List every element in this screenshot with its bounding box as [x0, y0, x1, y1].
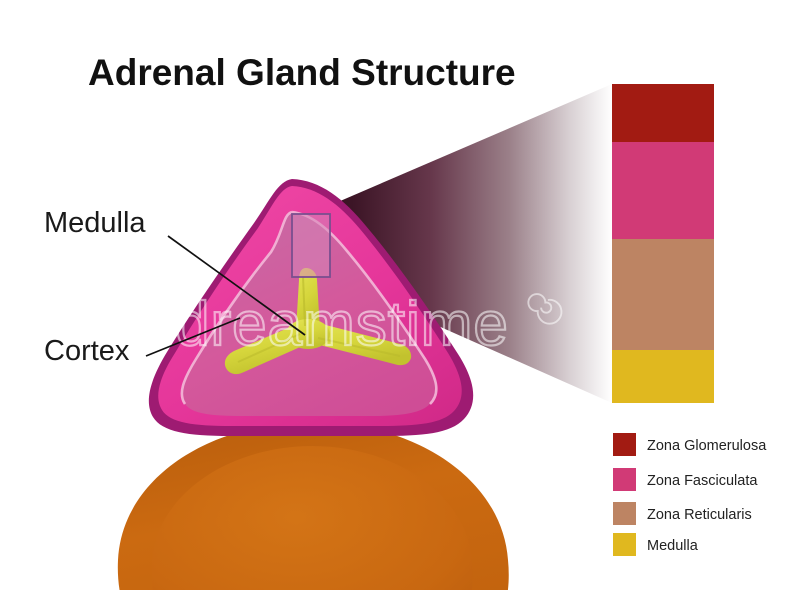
legend-swatch-zona-glomerulosa: [613, 433, 636, 456]
legend-item-zona-reticularis[interactable]: Zona Reticularis: [613, 502, 752, 525]
legend-label-zona-reticularis: Zona Reticularis: [647, 507, 752, 523]
magnified-region-selector[interactable]: [292, 214, 330, 277]
legend-item-zona-glomerulosa[interactable]: Zona Glomerulosa: [613, 433, 767, 456]
kidney: [118, 422, 509, 590]
legend-label-medulla: Medulla: [647, 538, 699, 554]
adrenal-gland-illustration: Adrenal Gland Structure: [0, 0, 800, 590]
legend-label-zona-fasciculata: Zona Fasciculata: [647, 473, 758, 489]
legend-swatch-zona-fasciculata: [613, 468, 636, 491]
zone-legend: Zona Glomerulosa Zona Fasciculata Zona R…: [613, 433, 767, 556]
zone-band-medulla: [612, 350, 714, 403]
legend-swatch-medulla: [613, 533, 636, 556]
figure-canvas: Adrenal Gland Structure: [0, 0, 800, 590]
zone-band-zona-glomerulosa: [612, 84, 714, 142]
zone-band-zona-reticularis: [612, 239, 714, 350]
legend-item-medulla[interactable]: Medulla: [613, 533, 699, 556]
page-title: Adrenal Gland Structure: [88, 52, 516, 93]
legend-item-zona-fasciculata[interactable]: Zona Fasciculata: [613, 468, 758, 491]
callout-label-medulla: Medulla: [44, 207, 146, 239]
magnified-zone-strip: [612, 84, 714, 403]
legend-swatch-zona-reticularis: [613, 502, 636, 525]
zone-band-zona-fasciculata: [612, 142, 714, 239]
legend-label-zona-glomerulosa: Zona Glomerulosa: [647, 438, 767, 454]
callout-label-cortex: Cortex: [44, 335, 130, 367]
watermark: dreamstime: [175, 290, 561, 359]
